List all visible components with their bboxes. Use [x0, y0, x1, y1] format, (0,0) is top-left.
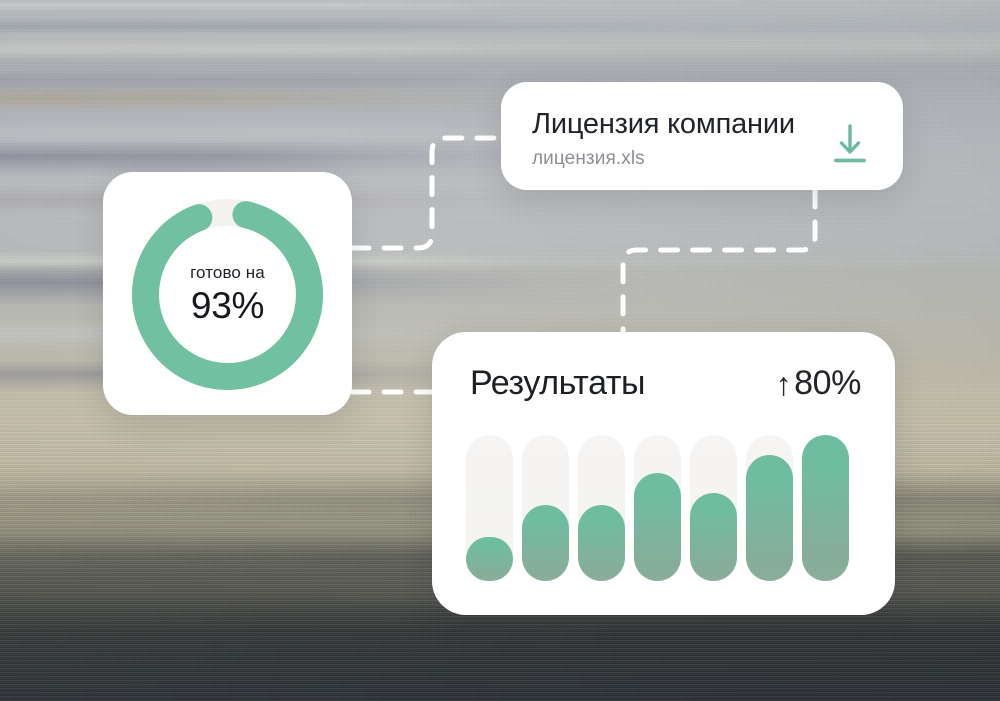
bar-fill	[466, 537, 513, 581]
download-icon[interactable]	[827, 122, 873, 168]
bar-slot	[802, 435, 849, 581]
results-card[interactable]: Результаты ↑ 80%	[432, 332, 895, 615]
progress-value: 93%	[191, 285, 264, 327]
donut-chart: готово на 93%	[125, 192, 330, 397]
connector-license-to-results	[623, 190, 815, 332]
bar-slot	[522, 435, 569, 581]
license-title: Лицензия компании	[532, 108, 795, 141]
results-header: Результаты ↑ 80%	[470, 364, 861, 403]
bar-slot	[466, 435, 513, 581]
progress-caption: готово на	[190, 263, 265, 283]
bar-slot	[634, 435, 681, 581]
bar-fill	[746, 455, 793, 581]
bar-fill	[690, 493, 737, 581]
download-button[interactable]	[827, 122, 873, 168]
bar-slot	[578, 435, 625, 581]
license-file-name: лицензия.xls	[532, 148, 645, 170]
bar-slot	[690, 435, 737, 581]
license-card[interactable]: Лицензия компании лицензия.xls	[501, 82, 903, 190]
results-bar-chart	[466, 435, 866, 581]
donut-center-labels: готово на 93%	[125, 192, 330, 397]
bar-fill	[802, 435, 849, 581]
bar-slot	[746, 435, 793, 581]
bar-fill	[634, 473, 681, 581]
bar-fill	[522, 505, 569, 581]
arrow-up-icon: ↑	[776, 368, 792, 400]
results-delta-value: 80%	[794, 364, 861, 403]
results-delta-badge: ↑ 80%	[776, 364, 861, 403]
results-title: Результаты	[470, 364, 645, 403]
bar-fill	[578, 505, 625, 581]
progress-card[interactable]: готово на 93%	[103, 172, 352, 415]
connector-progress-to-license	[352, 138, 501, 248]
